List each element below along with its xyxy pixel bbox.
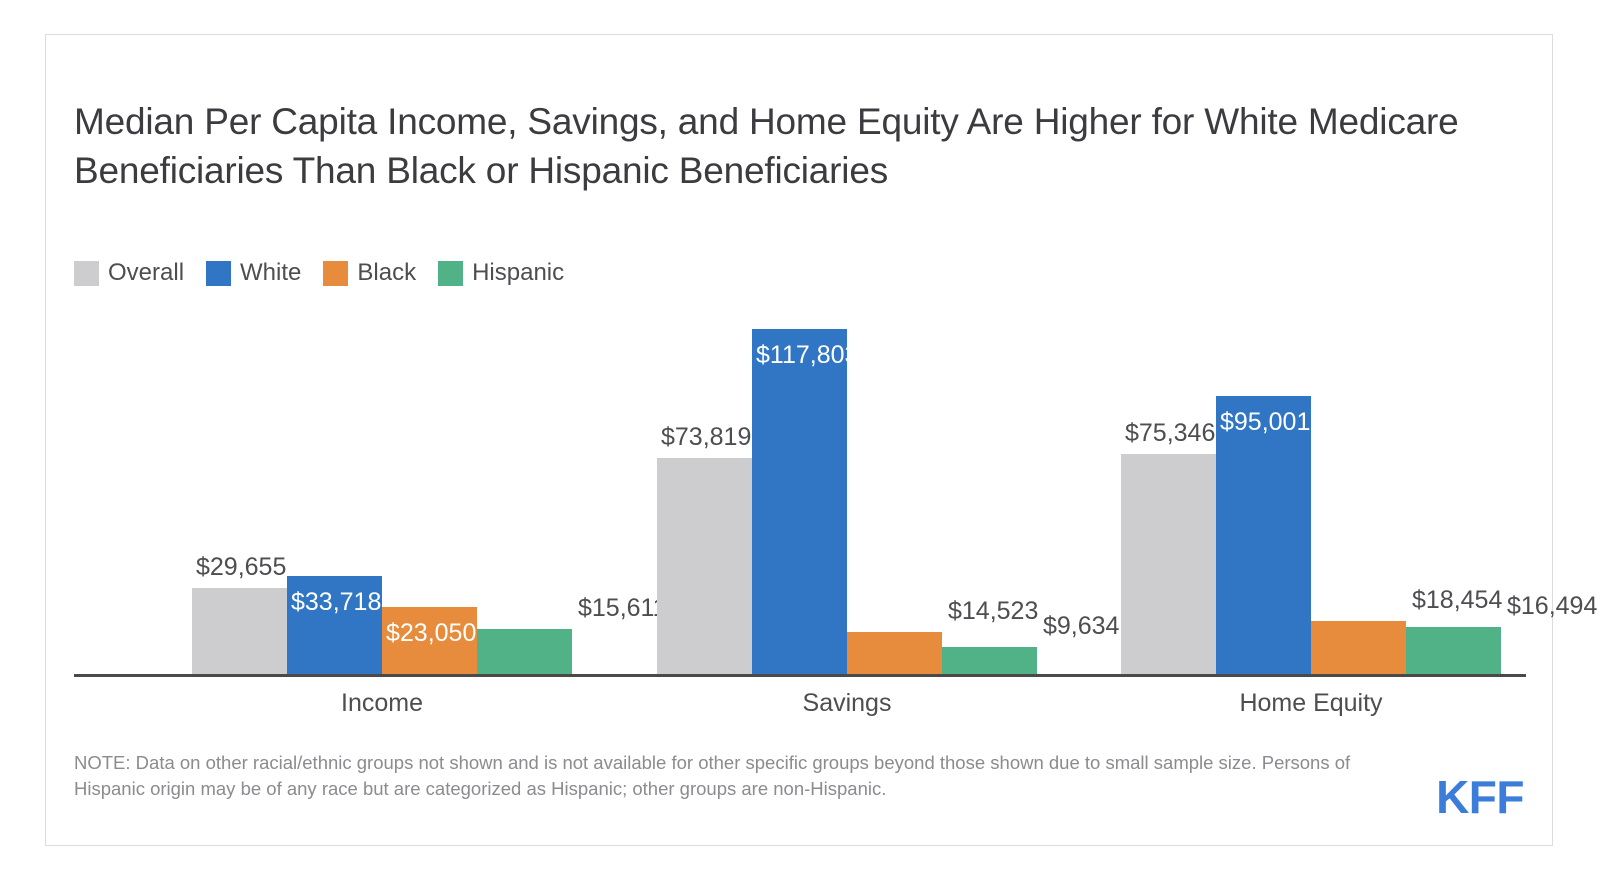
bar-hispanic-home-equity[interactable]: [1406, 627, 1501, 675]
bar-group-savings: $73,819$117,803$14,523$9,634: [657, 303, 1037, 675]
legend-item-overall[interactable]: Overall: [74, 259, 184, 287]
bar-white-savings[interactable]: [752, 329, 847, 675]
bar-slot: $18,454: [1311, 303, 1406, 675]
bar-group-home-equity: $75,346$95,001$18,454$16,494: [1121, 303, 1501, 675]
bar-slot: $73,819: [657, 303, 752, 675]
legend-item-label: White: [240, 259, 301, 287]
bar-slot: $16,494: [1406, 303, 1501, 675]
bar-black-savings[interactable]: [847, 632, 942, 675]
bar-value-label: $117,803: [756, 343, 858, 368]
plot-area: $29,655$33,718$23,050$15,611$73,819$117,…: [74, 303, 1526, 675]
bar-group-income: $29,655$33,718$23,050$15,611: [192, 303, 572, 675]
bar-value-label: $73,819: [661, 425, 751, 450]
chart-card: Median Per Capita Income, Savings, and H…: [45, 34, 1553, 846]
bar-slot: $117,803: [752, 303, 847, 675]
bar-overall-income[interactable]: [192, 588, 287, 675]
bar-overall-home-equity[interactable]: [1121, 454, 1216, 675]
legend-item-hispanic[interactable]: Hispanic: [438, 259, 564, 287]
bar-value-label: $15,611: [578, 596, 667, 621]
bar-overall-savings[interactable]: [657, 458, 752, 675]
bar-hispanic-income[interactable]: [477, 629, 572, 675]
note-line-1: NOTE: Data on other racial/ethnic groups…: [74, 752, 1257, 773]
bar-slot: $9,634: [942, 303, 1037, 675]
x-axis-line: [74, 674, 1526, 677]
bar-slot: $29,655: [192, 303, 287, 675]
legend-item-white[interactable]: White: [206, 259, 301, 287]
legend-item-label: Overall: [108, 259, 184, 287]
bar-slot: $15,611: [477, 303, 572, 675]
legend-item-black[interactable]: Black: [323, 259, 416, 287]
kff-logo: KFF: [1436, 770, 1524, 824]
chart-note: NOTE: Data on other racial/ethnic groups…: [74, 750, 1404, 802]
bar-value-label: $95,001: [1220, 410, 1310, 435]
bar-value-label: $9,634: [1043, 614, 1119, 639]
bar-slot: $95,001: [1216, 303, 1311, 675]
page-title: Median Per Capita Income, Savings, and H…: [74, 97, 1494, 195]
bar-value-label: $16,494: [1507, 594, 1597, 619]
x-axis-label-income: Income: [192, 689, 572, 718]
x-axis-label-savings: Savings: [657, 689, 1037, 718]
legend-swatch-icon: [206, 261, 231, 286]
legend-item-label: Black: [357, 259, 416, 287]
legend-swatch-icon: [438, 261, 463, 286]
legend-swatch-icon: [74, 261, 99, 286]
bar-value-label: $75,346: [1125, 421, 1215, 446]
bar-value-label: $33,718: [291, 590, 381, 615]
legend-swatch-icon: [323, 261, 348, 286]
bar-slot: $14,523: [847, 303, 942, 675]
bar-hispanic-savings[interactable]: [942, 647, 1037, 675]
bar-white-home-equity[interactable]: [1216, 396, 1311, 675]
bar-black-home-equity[interactable]: [1311, 621, 1406, 675]
bar-value-label: $29,655: [196, 555, 286, 580]
bar-slot: $75,346: [1121, 303, 1216, 675]
chart-legend: OverallWhiteBlackHispanic: [74, 259, 564, 287]
x-axis-label-home-equity: Home Equity: [1121, 689, 1501, 718]
bar-slot: $33,718: [287, 303, 382, 675]
bar-value-label: $23,050: [386, 621, 476, 646]
bar-slot: $23,050: [382, 303, 477, 675]
legend-item-label: Hispanic: [472, 259, 564, 287]
